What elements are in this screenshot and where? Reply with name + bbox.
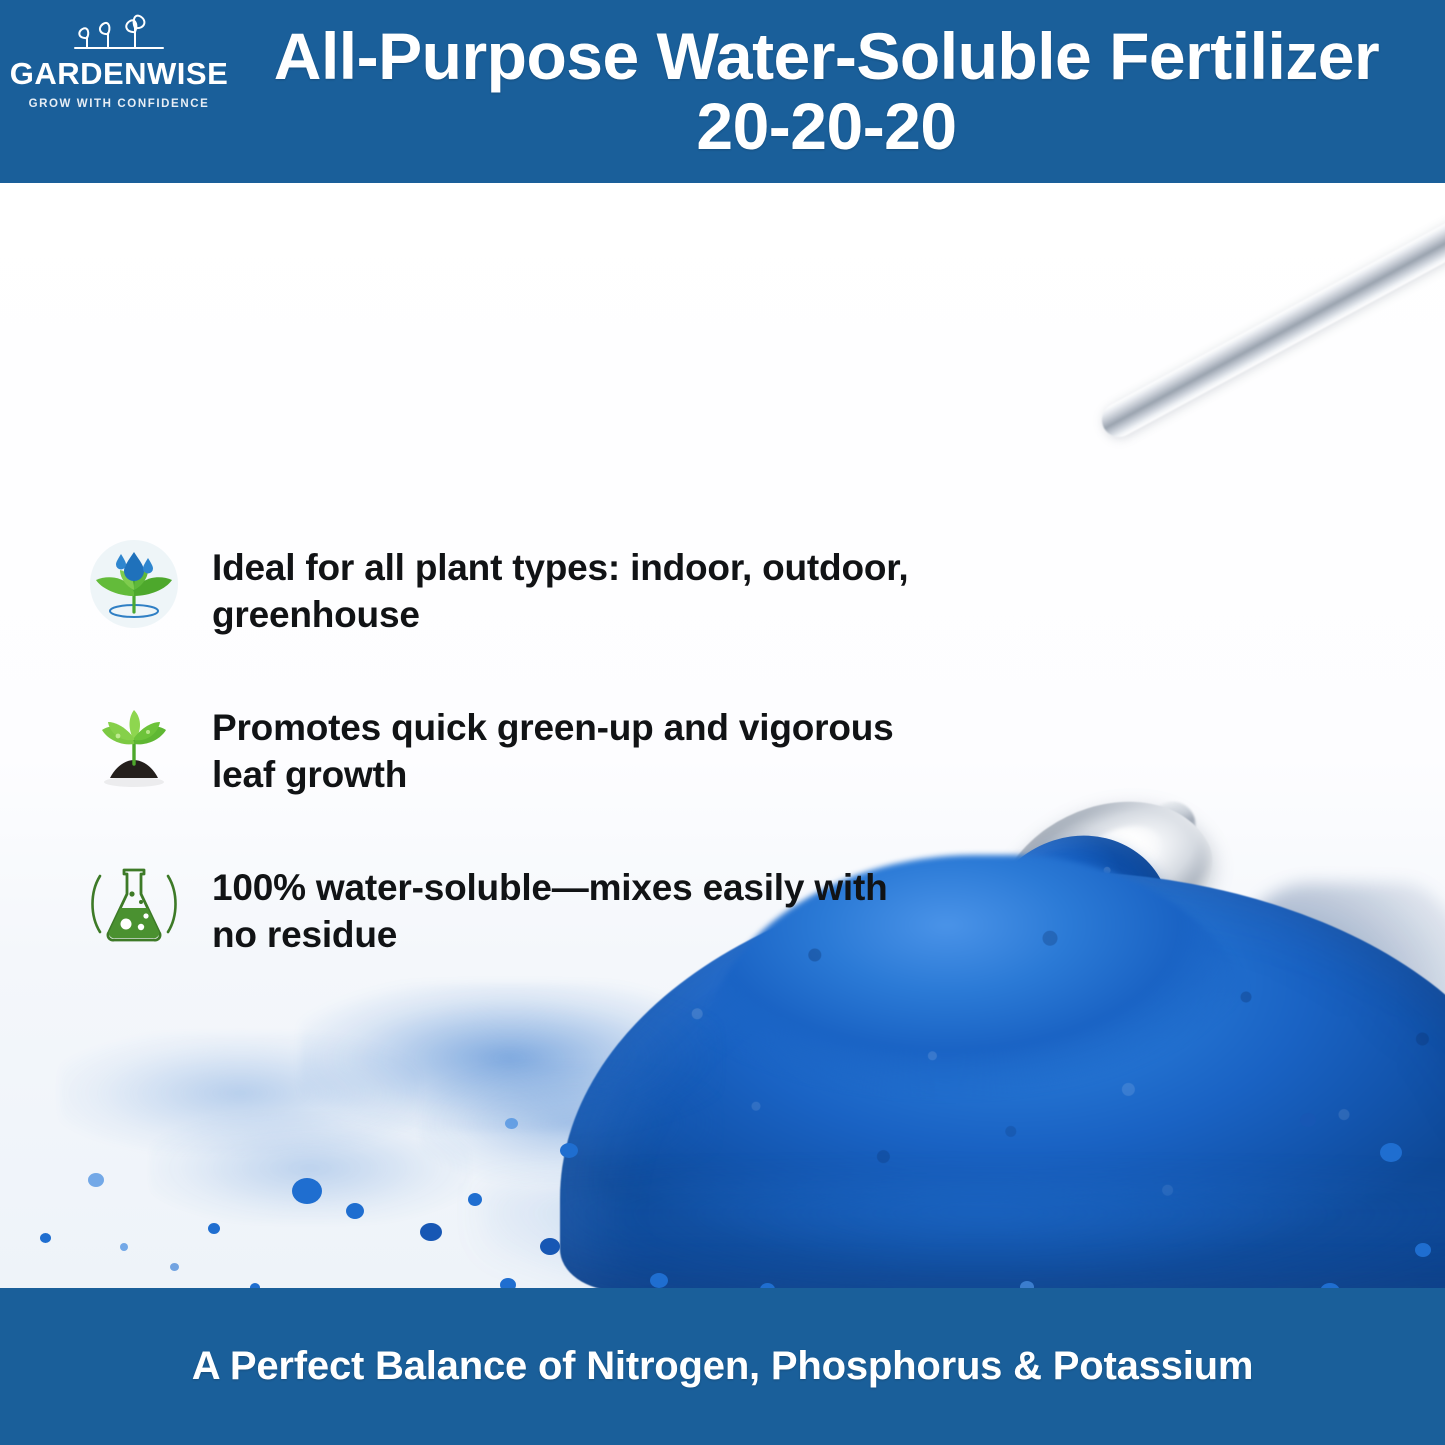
feature-text: 100% water-soluble—mixes easily with no … bbox=[212, 854, 932, 959]
page-title: All-Purpose Water-Soluble Fertilizer 20-… bbox=[238, 22, 1445, 161]
list-item: Ideal for all plant types: indoor, outdo… bbox=[78, 534, 960, 640]
footer-tagline: A Perfect Balance of Nitrogen, Phosphoru… bbox=[192, 1344, 1253, 1389]
header-banner: GARDENWISE GROW WITH CONFIDENCE All-Purp… bbox=[0, 0, 1445, 183]
feature-text: Ideal for all plant types: indoor, outdo… bbox=[212, 534, 932, 639]
product-photo: Ideal for all plant types: indoor, outdo… bbox=[0, 183, 1445, 1288]
feature-list: Ideal for all plant types: indoor, outdo… bbox=[0, 366, 960, 1014]
brand-logo[interactable]: GARDENWISE GROW WITH CONFIDENCE bbox=[0, 0, 238, 183]
leaf-water-drop-icon bbox=[78, 528, 190, 640]
brand-name: GARDENWISE bbox=[10, 58, 229, 89]
list-item: 100% water-soluble—mixes easily with no … bbox=[78, 854, 960, 960]
footer-banner: A Perfect Balance of Nitrogen, Phosphoru… bbox=[0, 1288, 1445, 1445]
brand-tagline: GROW WITH CONFIDENCE bbox=[29, 98, 210, 110]
feature-text: Promotes quick green-up and vigorous lea… bbox=[212, 694, 932, 799]
list-item: Promotes quick green-up and vigorous lea… bbox=[78, 694, 960, 800]
seedling-soil-icon bbox=[78, 688, 190, 800]
seedlings-icon bbox=[63, 8, 175, 56]
flask-icon bbox=[78, 848, 190, 960]
